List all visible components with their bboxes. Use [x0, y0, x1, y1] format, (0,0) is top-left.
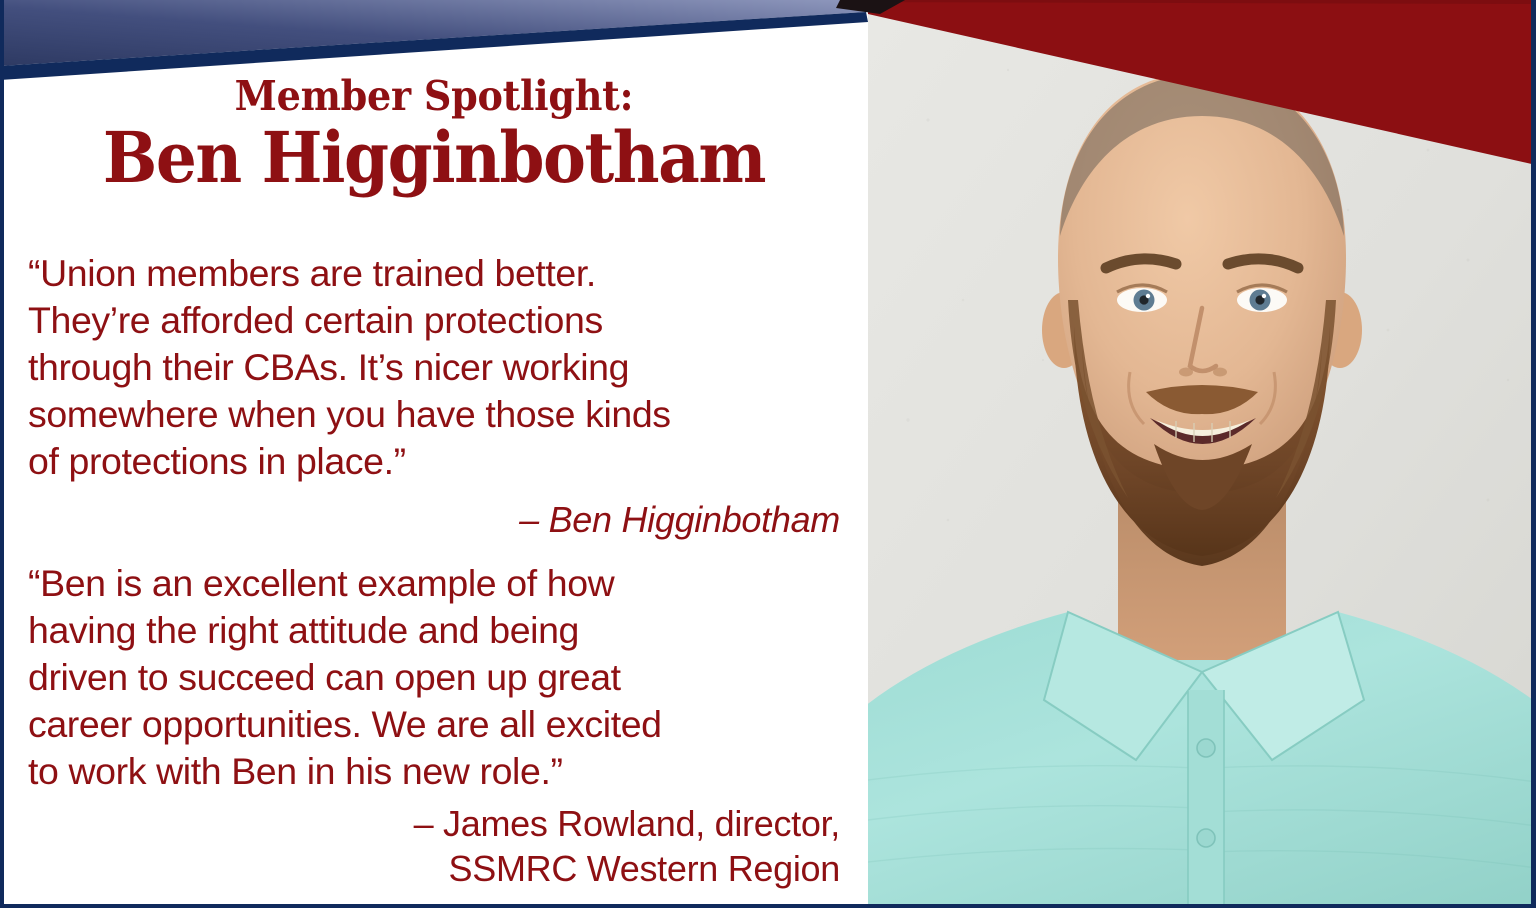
page-kicker: Member Spotlight:	[30, 76, 837, 118]
border-bottom	[0, 904, 1536, 908]
photo-divider	[864, 0, 868, 908]
quote-block-member: “Union members are trained better. They’…	[28, 250, 840, 542]
headline-block: Member Spotlight: Ben Higginbotham	[0, 76, 868, 193]
text-column: Member Spotlight: Ben Higginbotham “Unio…	[0, 0, 868, 908]
border-right	[1531, 0, 1536, 908]
quote-block-director: “Ben is an excellent example of how havi…	[28, 560, 840, 891]
quote-attribution-member: – Ben Higginbotham	[28, 497, 840, 542]
border-left	[0, 0, 4, 908]
quote-text-director: “Ben is an excellent example of how havi…	[28, 560, 840, 795]
member-spotlight-graphic: Member Spotlight: Ben Higginbotham “Unio…	[0, 0, 1536, 908]
member-photo	[868, 0, 1536, 908]
member-photo-illustration	[868, 0, 1536, 908]
quote-attribution-director: – James Rowland, director, SSMRC Western…	[28, 801, 840, 891]
page-title: Ben Higginbotham	[35, 122, 834, 193]
quote-text-member: “Union members are trained better. They’…	[28, 250, 840, 485]
